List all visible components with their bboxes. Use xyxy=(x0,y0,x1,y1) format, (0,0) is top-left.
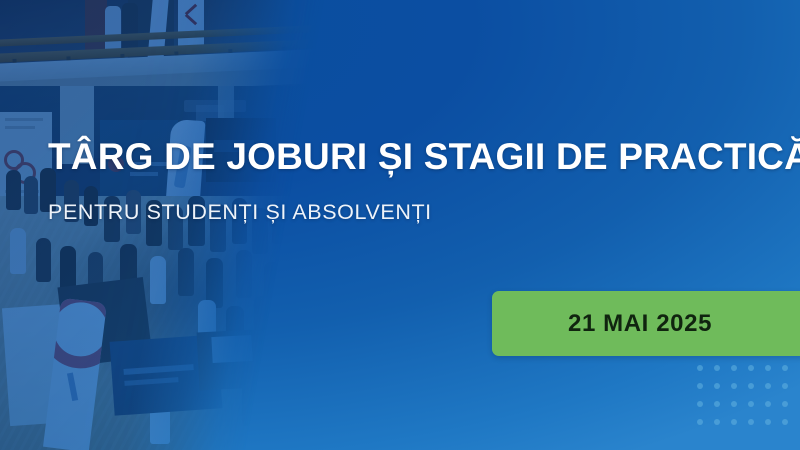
dot xyxy=(782,383,788,389)
dot xyxy=(714,401,720,407)
dot xyxy=(748,401,754,407)
dot-grid-decoration xyxy=(697,365,800,437)
dot xyxy=(731,365,737,371)
dot xyxy=(748,419,754,425)
page-title: TÂRG DE JOBURI ȘI STAGII DE PRACTICĂ xyxy=(48,138,768,177)
dot xyxy=(697,365,703,371)
dot xyxy=(782,419,788,425)
dot xyxy=(697,419,703,425)
dot xyxy=(697,383,703,389)
dot xyxy=(731,401,737,407)
dot xyxy=(714,419,720,425)
dot xyxy=(782,365,788,371)
event-photo xyxy=(0,0,330,450)
photo-blue-tint-overlay xyxy=(0,0,330,450)
dot xyxy=(765,401,771,407)
dot xyxy=(748,383,754,389)
page-subtitle: PENTRU STUDENȚI ȘI ABSOLVENȚI xyxy=(48,200,768,225)
dot xyxy=(714,365,720,371)
event-banner: TÂRG DE JOBURI ȘI STAGII DE PRACTICĂ PEN… xyxy=(0,0,800,450)
date-badge-label: 21 MAI 2025 xyxy=(568,310,712,338)
dot xyxy=(765,365,771,371)
dot xyxy=(731,383,737,389)
dot xyxy=(714,383,720,389)
dot xyxy=(748,365,754,371)
dot xyxy=(765,383,771,389)
dot xyxy=(782,401,788,407)
dot xyxy=(765,419,771,425)
dot xyxy=(697,401,703,407)
event-photo-image xyxy=(0,0,330,450)
date-badge: 21 MAI 2025 xyxy=(492,291,800,356)
dot xyxy=(731,419,737,425)
